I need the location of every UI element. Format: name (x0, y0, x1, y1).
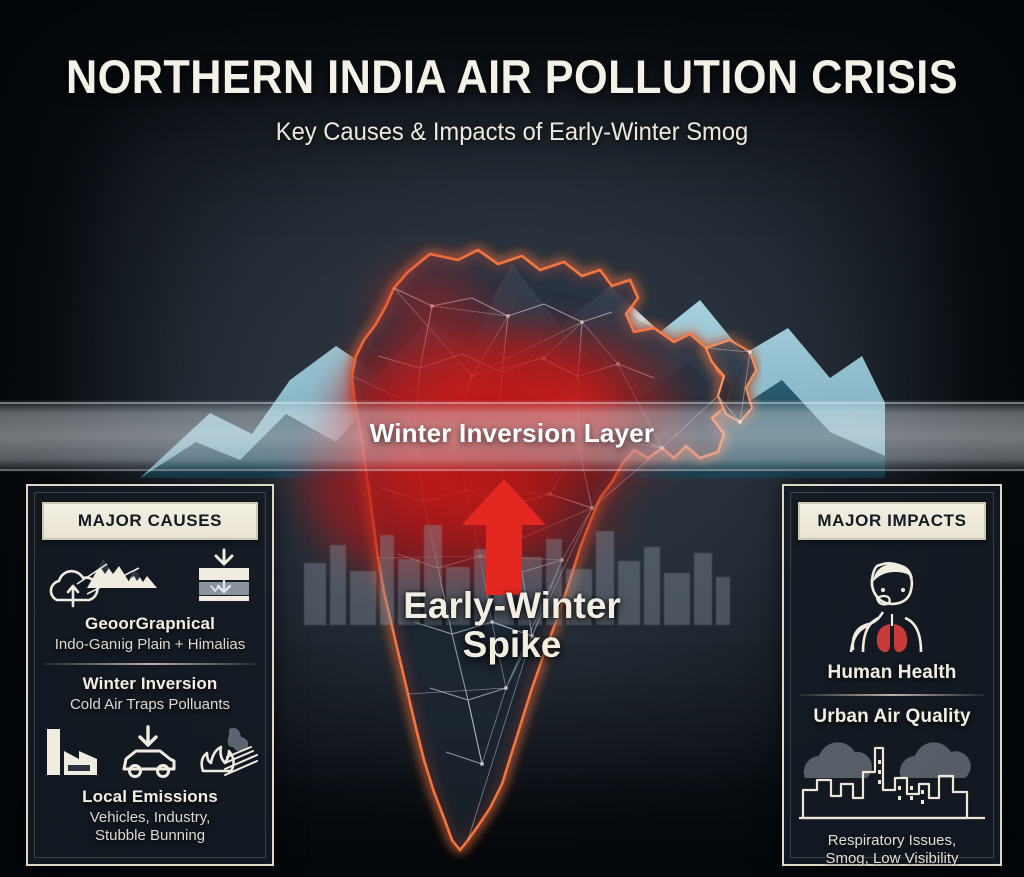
page-title: NORTHERN INDIA AIR POLLUTION CRISIS (41, 52, 983, 101)
cause-winter-inversion-title: Winter Inversion (38, 674, 262, 694)
emissions-icon-row (38, 725, 262, 781)
impact-block-urban-air-quality: Urban Air Quality (794, 706, 990, 867)
spike-line-2: Spike (312, 625, 712, 664)
impact-urban-air-quality-title: Urban Air Quality (794, 706, 990, 728)
impact-block-human-health: Human Health (794, 558, 990, 684)
major-causes-header: MAJOR CAUSES (42, 502, 258, 540)
cloud-uplift-icon (47, 548, 167, 608)
spike-line-1: Early-Winter (312, 586, 712, 625)
major-impacts-header: MAJOR IMPACTS (798, 502, 986, 540)
cause-geographical-subtitle: Indo-Ganıig Plain + Himalias (38, 636, 262, 654)
factory-icon (41, 725, 105, 781)
cause-local-emissions-title: Local Emissions (38, 787, 262, 807)
car-with-down-arrow-icon (116, 725, 180, 781)
cause-local-emissions-subtitle: Vehicles, Industry, Stubble Bunning (38, 809, 262, 844)
smoggy-city-skyline-icon (797, 734, 987, 826)
coughing-person-lungs-icon (837, 558, 947, 654)
major-causes-panel: MAJOR CAUSES (26, 484, 274, 866)
cause-block-local-emissions: Local Emissions Vehicles, Industry, Stub… (38, 725, 262, 844)
up-arrow-icon (460, 477, 548, 595)
header: NORTHERN INDIA AIR POLLUTION CRISIS Key … (0, 52, 1024, 147)
panel-divider (800, 694, 984, 696)
cause-block-geographical: GeoorGrapnical Indo-Ganıig Plain + Himal… (38, 548, 262, 654)
page-subtitle: Key Causes & Impacts of Early-Winter Smo… (26, 118, 999, 147)
winter-inversion-layer-label: Winter Inversion Layer (0, 418, 1024, 449)
cause-block-winter-inversion: Winter Inversion Cold Air Traps Polluant… (38, 674, 262, 714)
geographical-icon-row (38, 548, 262, 608)
inversion-layer-icon (195, 548, 253, 608)
early-winter-spike-label: Early-Winter Spike (312, 586, 712, 664)
major-causes-body: GeoorGrapnical Indo-Ganıig Plain + Himal… (38, 548, 262, 854)
stubble-fire-icon (191, 725, 259, 781)
panel-divider (44, 663, 256, 665)
impact-urban-air-quality-subtitle: Respiratory Issues, Smog, Low Visibility (794, 832, 990, 867)
cause-winter-inversion-subtitle: Cold Air Traps Polluants (38, 696, 262, 714)
impact-human-health-title: Human Health (794, 662, 990, 684)
infographic-canvas: Winter Inversion Layer Early-Winter Spik… (0, 0, 1024, 877)
major-impacts-panel: MAJOR IMPACTS (782, 484, 1002, 866)
cause-geographical-title: GeoorGrapnical (38, 614, 262, 634)
major-impacts-heading-text: MAJOR IMPACTS (817, 511, 966, 531)
major-impacts-body: Human Health Urban Air Quality (794, 548, 990, 854)
major-causes-heading-text: MAJOR CAUSES (78, 511, 222, 531)
